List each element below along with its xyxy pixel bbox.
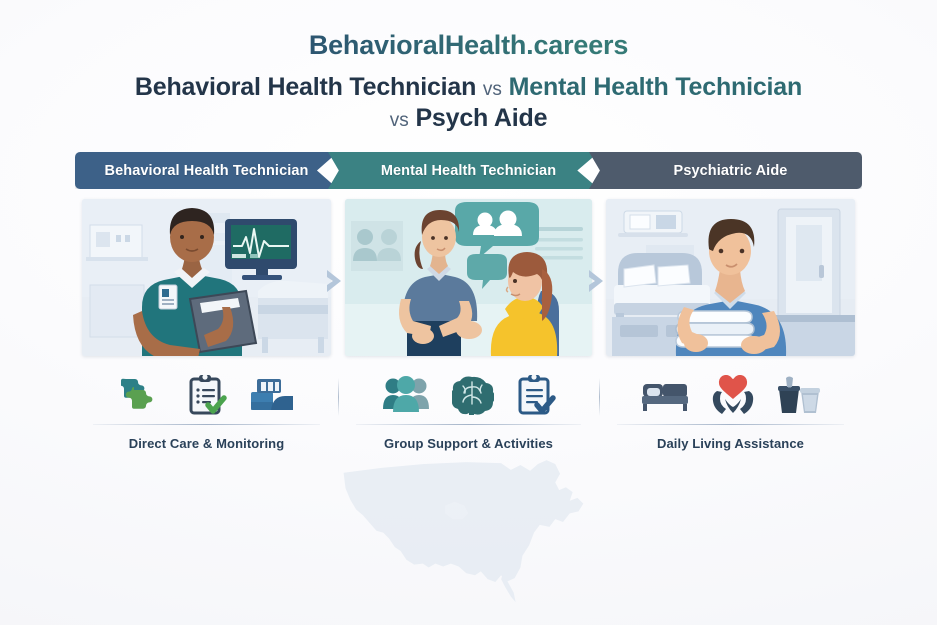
ribbon-header-2: Mental Health Technician — [328, 152, 599, 189]
illustration-group-support — [345, 199, 592, 356]
site-brand-logo: BehavioralHealth.careers — [0, 30, 937, 61]
brain-icon — [452, 375, 494, 415]
bed-icon — [641, 378, 689, 412]
icon-row-2 — [338, 370, 599, 420]
illustration-daily-living — [606, 199, 855, 356]
group-people-icon — [382, 376, 430, 414]
role-comparison-board: Behavioral Health Technician — [75, 152, 862, 452]
title-role-1: Behavioral Health Technician — [135, 73, 476, 101]
ribbon-label-1: Behavioral Health Technician — [105, 163, 309, 179]
hospital-building-icon — [249, 378, 295, 412]
illustration-direct-care — [82, 199, 331, 356]
page-title: Behavioral Health Technician vs Mental H… — [0, 72, 937, 133]
puzzle-pieces-icon — [119, 375, 165, 415]
caption-rule — [617, 424, 844, 425]
ribbon-header-1: Behavioral Health Technician — [75, 152, 338, 189]
title-role-3: Psych Aide — [415, 104, 547, 132]
title-role-2: Mental Health Technician — [509, 73, 802, 101]
ribbon-label-3: Psychiatric Aide — [674, 163, 788, 179]
caption-rule — [93, 424, 320, 425]
caption-1: Direct Care & Monitoring — [75, 436, 338, 451]
icon-row-1 — [75, 370, 338, 420]
flow-chevron-2 — [586, 268, 610, 294]
column-psychiatric-aide: Psychiatric Aide — [599, 152, 862, 452]
column-behavioral-health-technician: Behavioral Health Technician — [75, 152, 338, 452]
column-mental-health-technician: Mental Health Technician — [338, 152, 599, 452]
clipboard-check-icon — [516, 374, 556, 416]
title-vs-2: vs — [390, 110, 409, 131]
mop-bucket-icon — [777, 375, 821, 415]
icon-row-3 — [599, 370, 862, 420]
ribbon-header-3: Psychiatric Aide — [589, 152, 862, 189]
ribbon-label-2: Mental Health Technician — [381, 163, 556, 179]
united-states-map-watermark — [331, 455, 621, 620]
caption-rule — [356, 424, 581, 425]
title-vs-1: vs — [483, 79, 502, 100]
infographic-page: BehavioralHealth.careers Behavioral Heal… — [0, 0, 937, 625]
clipboard-check-icon — [187, 374, 227, 416]
heart-in-hands-icon — [711, 375, 755, 415]
caption-3: Daily Living Assistance — [599, 436, 862, 451]
caption-2: Group Support & Activities — [338, 436, 599, 451]
flow-chevron-1 — [324, 268, 348, 294]
